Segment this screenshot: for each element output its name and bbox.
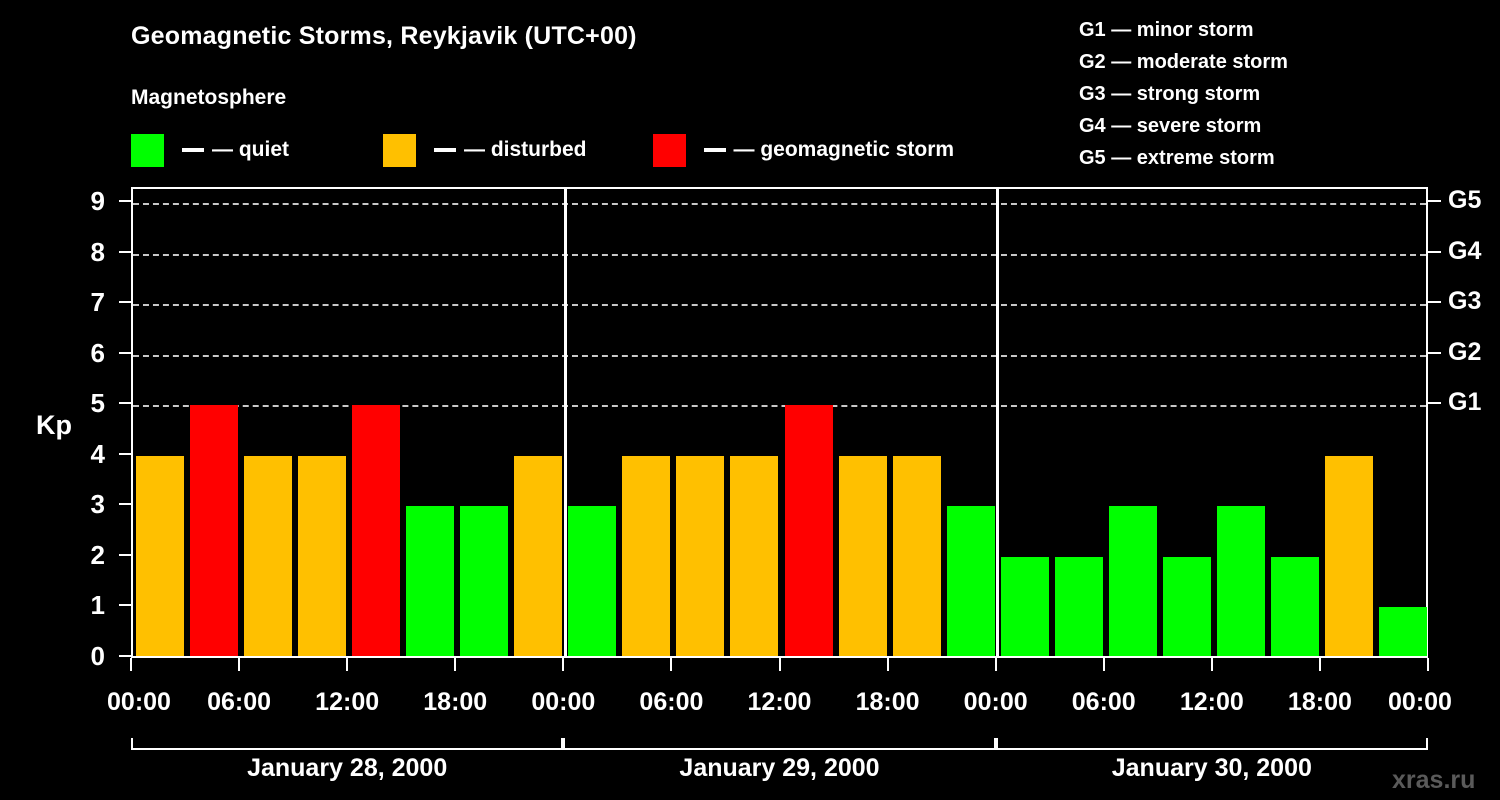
bar-quiet[interactable] [947,506,995,658]
gscale-line-g2: G2 — moderate storm [1079,46,1288,78]
legend-label-quiet: — quiet [212,138,289,162]
legend-dash-icon [434,148,456,152]
bar-storm[interactable] [352,405,400,658]
y-tick-label-0: 0 [45,643,105,669]
watermark: xras.ru [1392,766,1475,795]
bar-quiet[interactable] [1109,506,1157,658]
gscale-line-g5: G5 — extreme storm [1079,142,1288,174]
y-tick-mark-6 [119,352,131,354]
y-tick-mark-9 [119,200,131,202]
legend-label-disturbed: — disturbed [464,138,587,162]
bar-quiet[interactable] [568,506,616,658]
y-tick-label-3: 3 [45,491,105,517]
gridline-kp-9 [133,203,1426,205]
x-tick-label-1: 06:00 [207,688,271,717]
legend-dash-icon [182,148,204,152]
y-tick-mark-4 [119,453,131,455]
plot-area [131,187,1428,658]
x-tick-mark-5 [670,658,672,671]
bar-disturbed[interactable] [622,456,670,658]
y-tick-label-2: 2 [45,542,105,568]
chart-root: Geomagnetic Storms, Reykjavik (UTC+00) M… [0,0,1500,800]
g-tick-label-G2: G2 [1448,340,1481,365]
panel-divider [564,189,567,658]
g-tick-mark-G5 [1428,200,1441,202]
x-tick-label-3: 18:00 [423,688,487,717]
y-tick-label-4: 4 [45,441,105,467]
bar-disturbed[interactable] [1325,456,1373,658]
x-tick-mark-2 [346,658,348,671]
page-title: Geomagnetic Storms, Reykjavik (UTC+00) [131,22,637,51]
y-tick-mark-3 [119,503,131,505]
y-tick-mark-1 [119,604,131,606]
day-bracket [996,738,1428,750]
x-tick-label-11: 18:00 [1288,688,1352,717]
y-tick-mark-5 [119,402,131,404]
x-tick-mark-12 [1427,658,1429,671]
y-tick-label-1: 1 [45,592,105,618]
x-tick-mark-9 [1103,658,1105,671]
legend-label-storm: — geomagnetic storm [734,138,955,162]
legend-item-quiet: — quiet [131,132,289,168]
x-tick-mark-10 [1211,658,1213,671]
x-tick-label-4: 00:00 [531,688,595,717]
x-tick-label-9: 06:00 [1072,688,1136,717]
gscale-key: G1 — minor storm G2 — moderate storm G3 … [1079,14,1288,174]
x-tick-label-12: 00:00 [1388,688,1452,717]
bar-disturbed[interactable] [676,456,724,658]
y-tick-label-6: 6 [45,340,105,366]
x-tick-label-2: 12:00 [315,688,379,717]
gscale-line-g1: G1 — minor storm [1079,14,1288,46]
plot-inner [133,189,1426,658]
bar-quiet[interactable] [406,506,454,658]
y-tick-label-8: 8 [45,239,105,265]
y-tick-mark-2 [119,554,131,556]
x-tick-mark-6 [779,658,781,671]
bar-disturbed[interactable] [893,456,941,658]
x-tick-label-0: 00:00 [107,688,171,717]
gridline-kp-6 [133,355,1426,357]
y-tick-mark-0 [119,655,131,657]
x-tick-mark-8 [995,658,997,671]
bar-storm[interactable] [190,405,238,658]
storm-swatch-icon [653,134,686,167]
bar-quiet[interactable] [1055,557,1103,658]
x-tick-label-7: 18:00 [856,688,920,717]
bar-quiet[interactable] [1217,506,1265,658]
gscale-line-g3: G3 — strong storm [1079,78,1288,110]
g-tick-label-G4: G4 [1448,239,1481,264]
legend-item-disturbed: — disturbed [383,132,587,168]
x-tick-label-6: 12:00 [748,688,812,717]
g-tick-label-G5: G5 [1448,188,1481,213]
day-bracket [131,738,563,750]
y-tick-label-7: 7 [45,289,105,315]
gridline-kp-5 [133,405,1426,407]
gridline-kp-8 [133,254,1426,256]
gscale-line-g4: G4 — severe storm [1079,110,1288,142]
legend-item-storm: — geomagnetic storm [653,132,955,168]
g-tick-mark-G2 [1428,352,1441,354]
bar-disturbed[interactable] [514,456,562,658]
day-label: January 28, 2000 [247,754,447,783]
gridline-kp-7 [133,304,1426,306]
bar-quiet[interactable] [1001,557,1049,658]
x-tick-mark-1 [238,658,240,671]
bar-quiet[interactable] [460,506,508,658]
x-tick-mark-7 [887,658,889,671]
y-tick-label-5: 5 [45,390,105,416]
legend-dash-icon [704,148,726,152]
g-tick-mark-G3 [1428,301,1441,303]
y-tick-label-9: 9 [45,188,105,214]
x-tick-mark-0 [130,658,132,671]
bar-disturbed[interactable] [730,456,778,658]
disturbed-swatch-icon [383,134,416,167]
legend-heading: Magnetosphere [131,86,286,110]
g-tick-mark-G1 [1428,402,1441,404]
x-tick-label-8: 00:00 [964,688,1028,717]
day-bracket [563,738,995,750]
bar-quiet[interactable] [1163,557,1211,658]
y-tick-mark-7 [119,301,131,303]
g-tick-label-G3: G3 [1448,289,1481,314]
bar-disturbed[interactable] [136,456,184,658]
x-tick-label-5: 06:00 [639,688,703,717]
bar-storm[interactable] [785,405,833,658]
panel-divider [996,189,999,658]
x-tick-mark-3 [454,658,456,671]
x-tick-mark-4 [562,658,564,671]
y-tick-mark-8 [119,251,131,253]
bar-disturbed[interactable] [839,456,887,658]
g-tick-mark-G4 [1428,251,1441,253]
legend: — quiet — disturbed — geomagnetic storm [131,132,954,168]
g-tick-label-G1: G1 [1448,390,1481,415]
x-tick-mark-11 [1319,658,1321,671]
bar-disturbed[interactable] [244,456,292,658]
quiet-swatch-icon [131,134,164,167]
bar-quiet[interactable] [1379,607,1427,658]
x-tick-label-10: 12:00 [1180,688,1244,717]
bar-quiet[interactable] [1271,557,1319,658]
day-label: January 30, 2000 [1112,754,1312,783]
day-label: January 29, 2000 [679,754,879,783]
bar-disturbed[interactable] [298,456,346,658]
